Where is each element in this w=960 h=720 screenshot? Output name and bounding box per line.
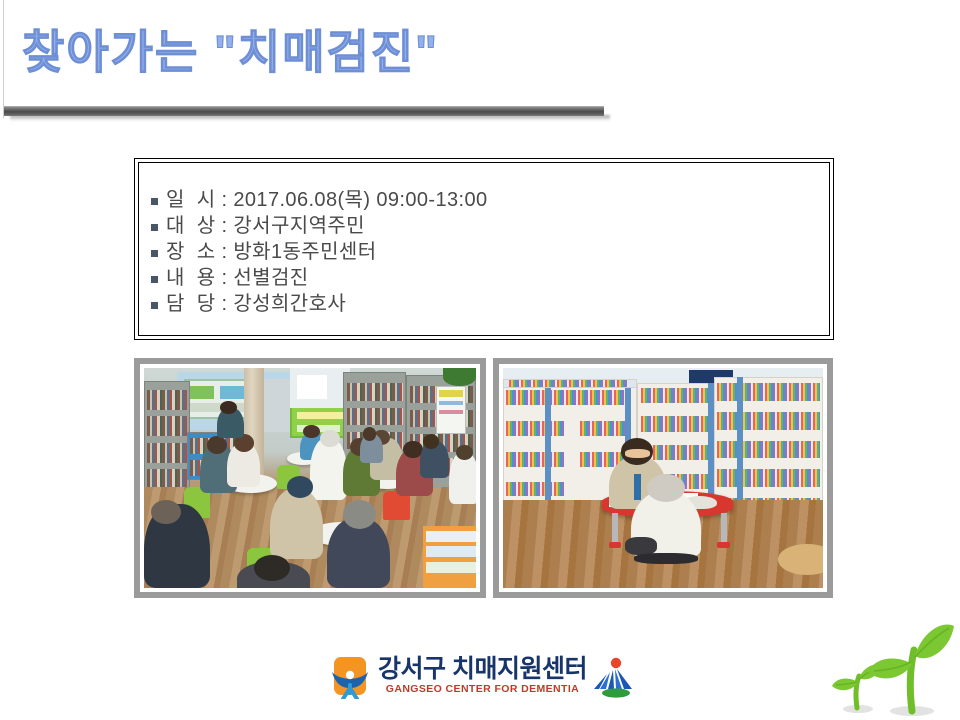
logo-person-figure-icon [328,655,372,699]
photo-screening-library-table [503,368,823,588]
slide-canvas: 찾아가는 "치매검진" 일 시 : 2017.06.08(목) 09:00-13… [0,0,960,720]
photo-mat-left [140,364,480,592]
list-item: 담 당 : 강성희간호사 [151,293,488,316]
info-list: 일 시 : 2017.06.08(목) 09:00-13:00 대 상 : 강서… [151,189,488,319]
info-line-target: 대 상 : 강서구지역주민 [166,215,365,238]
page-title: 찾아가는 "치매검진" [22,26,642,79]
list-item: 장 소 : 방화1동주민센터 [151,241,488,264]
info-line-staff: 담 당 : 강성희간호사 [166,293,346,316]
logo-title: 강서구 치매지원센터 [378,657,587,683]
photo-frame-left [134,358,486,598]
gangseo-dementia-center-mark-icon [328,655,372,699]
bullet-square-icon [151,302,158,309]
info-box: 일 시 : 2017.06.08(목) 09:00-13:00 대 상 : 강서… [134,158,834,340]
bullet-square-icon [151,276,158,283]
sprout-illustration-icon [830,616,958,716]
list-item: 내 용 : 선별검진 [151,267,488,290]
photo-screening-community-room [144,368,476,588]
info-line-date: 일 시 : 2017.06.08(목) 09:00-13:00 [166,189,488,212]
gangseo-gu-emblem-icon [592,656,638,698]
title-divider-bar [4,106,604,116]
info-line-content: 내 용 : 선별검진 [166,267,309,290]
left-hairline [3,0,4,118]
bullet-square-icon [151,250,158,257]
list-item: 대 상 : 강서구지역주민 [151,215,488,238]
info-line-place: 장 소 : 방화1동주민센터 [166,241,377,264]
photo-mat-right [499,364,827,592]
logo-text-block: 강서구 치매지원센터 GANGSEO CENTER FOR DEMENTIA [378,657,587,697]
bullet-square-icon [151,224,158,231]
photo-frame-right [493,358,833,598]
logo-subtitle: GANGSEO CENTER FOR DEMENTIA [378,682,587,697]
bullet-square-icon [151,198,158,205]
footer-logo: 강서구 치매지원센터 GANGSEO CENTER FOR DEMENTIA [328,654,638,700]
title-divider [4,106,604,120]
list-item: 일 시 : 2017.06.08(목) 09:00-13:00 [151,189,488,212]
